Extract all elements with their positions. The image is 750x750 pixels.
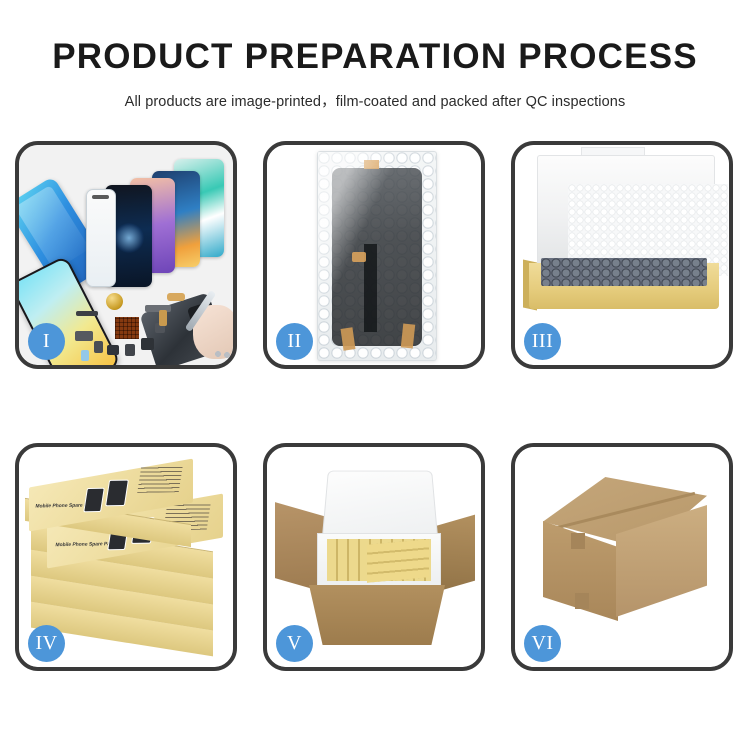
page-subtitle: All products are image-printed，film-coat… [0,90,750,111]
process-step-panel-6[interactable]: VI [511,443,733,671]
tempered-glass-icon [86,189,116,287]
step-badge-3: III [524,323,561,360]
bubble-wrapped-contents-icon [541,258,707,286]
screws-icon [215,350,231,358]
process-step-panel-1[interactable]: I [15,141,237,369]
part-chip-icon [125,344,135,356]
step-badge-4: IV [28,625,65,662]
carton-tape-icon [575,593,589,609]
tape-icon [364,160,379,169]
process-step-grid: I II III [15,141,735,671]
tape-icon [401,323,415,348]
page-header: PRODUCT PREPARATION PROCESS All products… [0,0,750,111]
flex-cable-icon [145,305,171,312]
process-step-panel-3[interactable]: III [511,141,733,369]
step-badge-6: VI [524,625,561,662]
packed-screen-icon [332,168,422,346]
part-chip-icon [76,311,98,316]
box-lid-icon [537,155,715,267]
part-chip-icon [81,350,89,361]
part-chip-icon [141,338,154,350]
process-step-panel-5[interactable]: V [263,443,485,671]
part-chip-icon [107,345,119,355]
flex-cable-icon [167,293,185,301]
tape-icon [352,252,366,262]
part-chip-icon [75,331,93,341]
speaker-coil-icon [106,293,123,310]
step-badge-5: V [276,625,313,662]
foam-lid-icon [322,471,438,540]
box-spec-lines [137,466,183,493]
process-step-panel-2[interactable]: II [263,141,485,369]
bubble-wrap-bag-icon [317,151,437,361]
box-phone-image [105,480,129,507]
carton-tape-icon [571,533,585,549]
flex-cable-icon [159,310,167,326]
part-chip-icon [94,341,103,353]
box-phone-image [83,488,105,513]
step-badge-2: II [276,323,313,360]
page-title: PRODUCT PREPARATION PROCESS [0,38,750,77]
process-step-panel-4[interactable]: Mobile Phone Spare Parts Mobile Phone Sp… [15,443,237,671]
carton-body-icon [309,585,445,645]
packed-yellow-boxes-icon [367,539,429,582]
copper-grid-chip-icon [115,317,139,339]
step-badge-1: I [28,323,65,360]
